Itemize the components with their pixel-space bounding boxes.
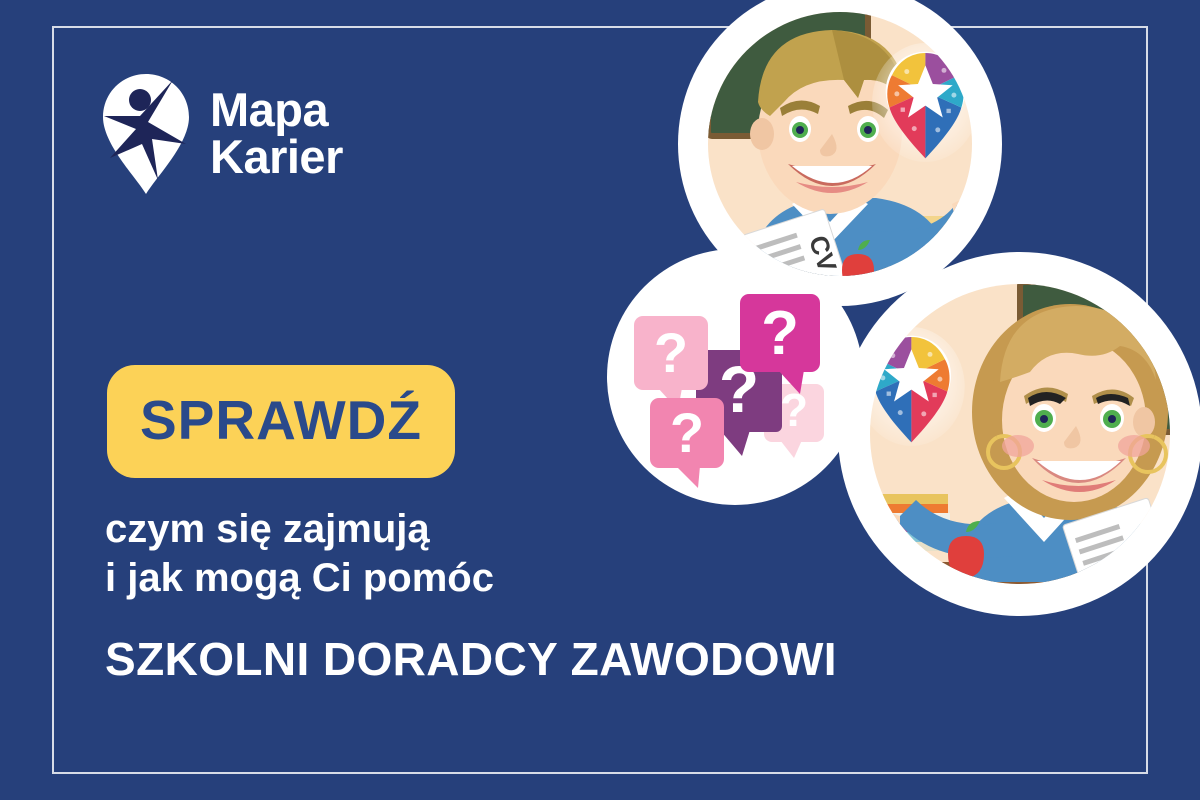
brand-name: Mapa Karier <box>210 87 343 180</box>
svg-text:?: ? <box>670 401 704 464</box>
map-pin-star-person-icon <box>100 72 192 196</box>
svg-text:?: ? <box>780 384 808 436</box>
svg-text:?: ? <box>654 321 688 384</box>
sprawdz-button[interactable]: SPRAWDŹ <box>107 365 455 478</box>
svg-text:?: ? <box>761 299 799 368</box>
subheadline: czym się zajmują i jak mogą Ci pomóc <box>105 505 494 603</box>
promo-banner: Mapa Karier <box>0 0 1200 800</box>
brand-logo[interactable]: Mapa Karier <box>100 72 343 196</box>
illustration-cluster: CV <box>600 0 1200 642</box>
headline: SZKOLNI DORADCY ZAWODOWI <box>105 632 837 686</box>
